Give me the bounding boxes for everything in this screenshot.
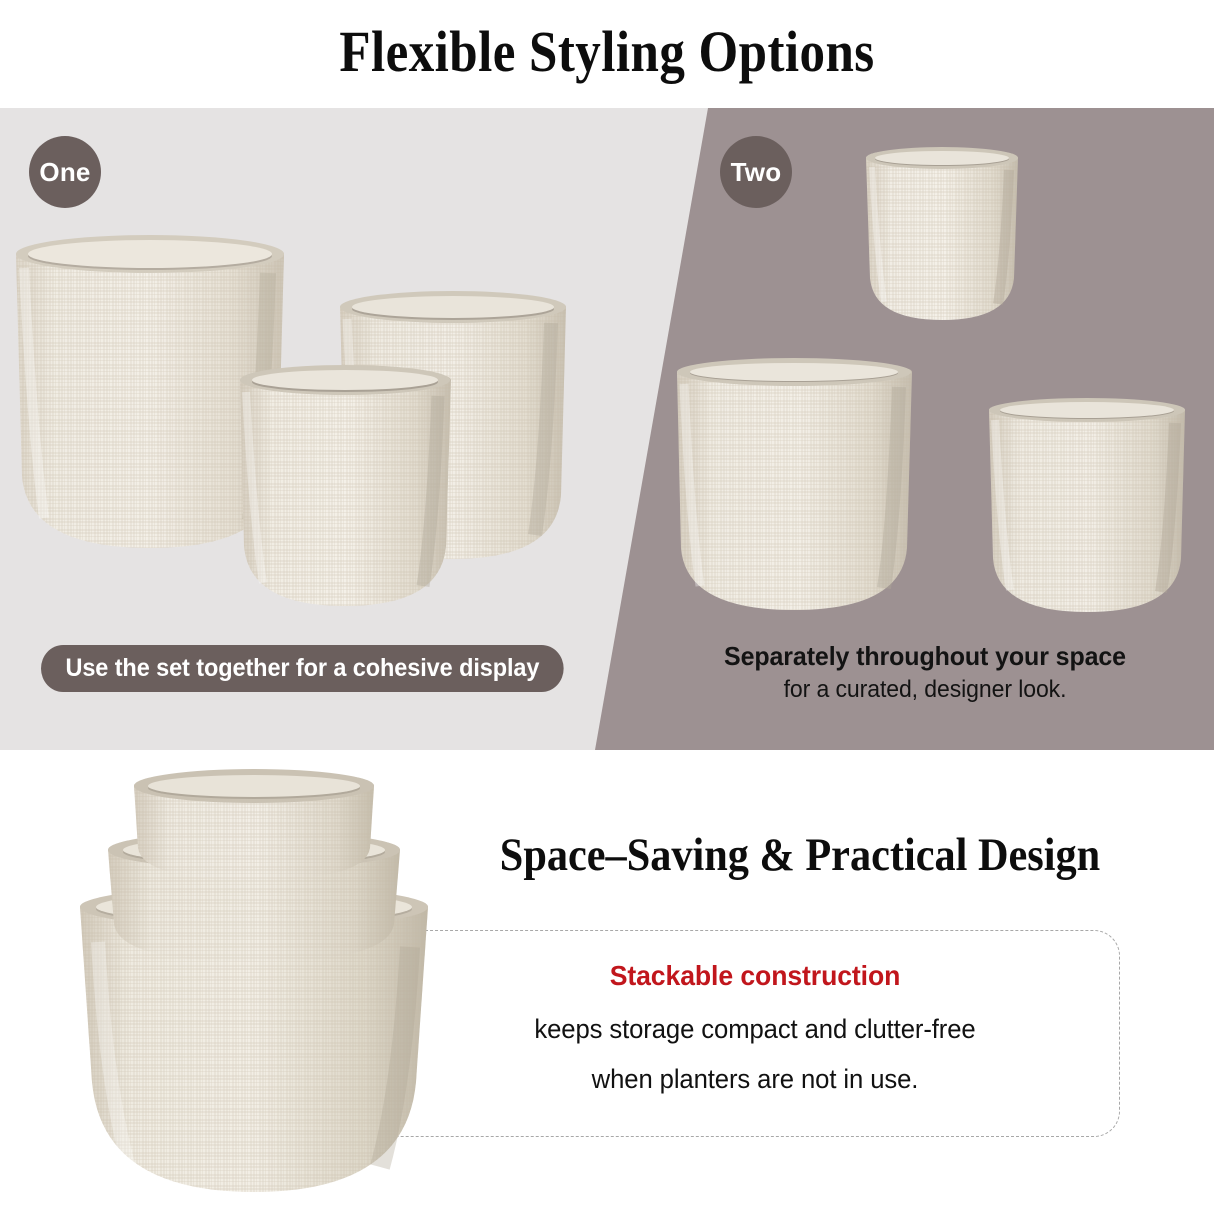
panel-one-caption-text: Use the set together for a cohesive disp… [65,654,539,683]
panel-one-caption-pill: Use the set together for a cohesive disp… [41,645,564,692]
feature-line-1: keeps storage compact and clutter-free [427,1014,1083,1045]
panel-two-caption-line2: for a curated, designer look. [671,673,1180,708]
feature-line-2: when planters are not in use. [427,1064,1083,1095]
badge-one-label: One [39,157,90,188]
feature-text-block: Stackable construction keeps storage com… [410,960,1100,1114]
feature-headline: Stackable construction [427,960,1083,992]
planter-stack [58,752,448,1214]
panel-two-caption: Separately throughout your space for a c… [660,640,1190,707]
planter-right-two [985,392,1190,624]
planter-left-two [672,352,917,624]
infographic-page: Flexible Styling Options [0,0,1214,1214]
badge-one: One [29,136,101,208]
page-title: Flexible Styling Options [73,22,1141,83]
panel-two-caption-line1: Separately throughout your space [671,640,1180,673]
badge-two: Two [720,136,792,208]
section-heading: Space–Saving & Practical Design [445,828,1156,882]
planter-small-one [235,358,455,620]
planter-top-two [862,140,1022,330]
badge-two-label: Two [731,157,782,188]
